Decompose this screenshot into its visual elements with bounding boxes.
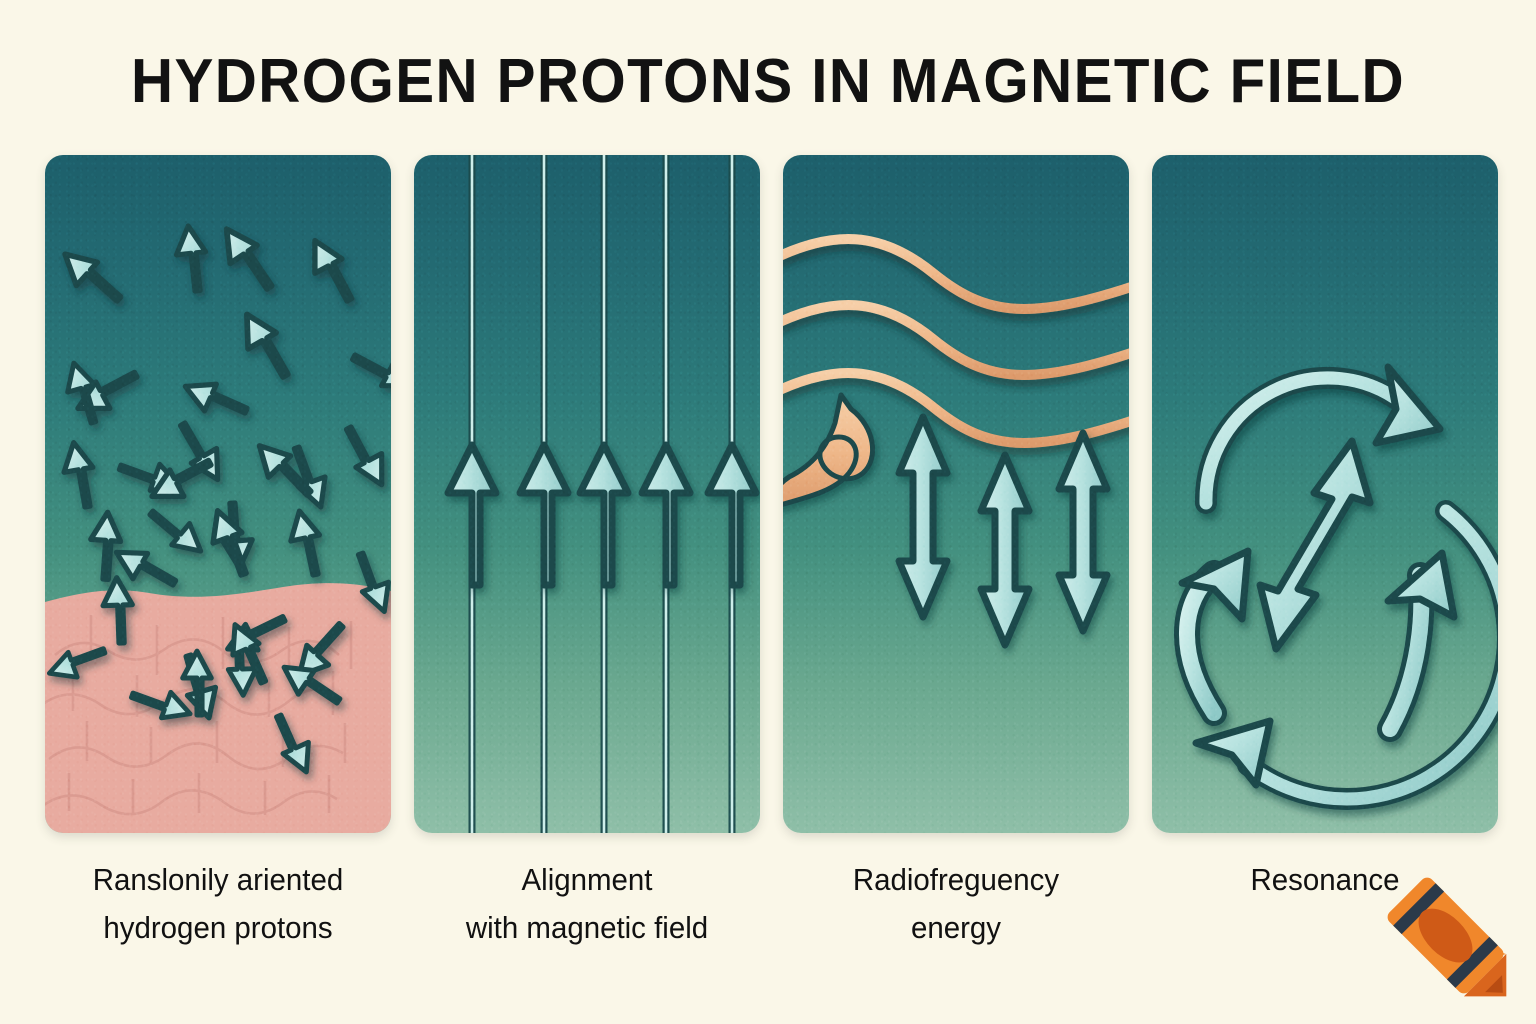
caption-alignment: Alignment with magnetic field: [423, 856, 752, 952]
caption-line-1: Ranslonily ariented: [93, 862, 343, 897]
panel-grain: [414, 155, 760, 833]
caption-line-2: with magnetic field: [423, 904, 752, 952]
caption-radiofrequency: Radiofreguency energy: [792, 856, 1121, 952]
page-title: HYDROGEN PROTONS IN MAGNETIC FIELD: [46, 46, 1490, 117]
panel-grain: [783, 155, 1129, 833]
panel-alignment: [414, 155, 760, 833]
crayon-icon: [1385, 875, 1528, 1018]
caption-line-1: Resonance: [1250, 862, 1399, 897]
panel-radiofrequency: [783, 155, 1129, 833]
caption-line-1: Alignment: [522, 862, 653, 897]
caption-random-orientation: Ranslonily ariented hydrogen protons: [54, 856, 383, 952]
panel-resonance: [1152, 155, 1498, 833]
caption-line-2: energy: [792, 904, 1121, 952]
caption-line-1: Radiofreguency: [853, 862, 1059, 897]
crayon-sticker-watermark: [1380, 868, 1530, 1018]
panel-random-orientation: [45, 155, 391, 833]
illustration-canvas: HYDROGEN PROTONS IN MAGNETIC FIELD: [0, 0, 1536, 1024]
panel-grain: [1152, 155, 1498, 833]
panel-grain: [45, 155, 391, 833]
caption-line-2: hydrogen protons: [54, 904, 383, 952]
